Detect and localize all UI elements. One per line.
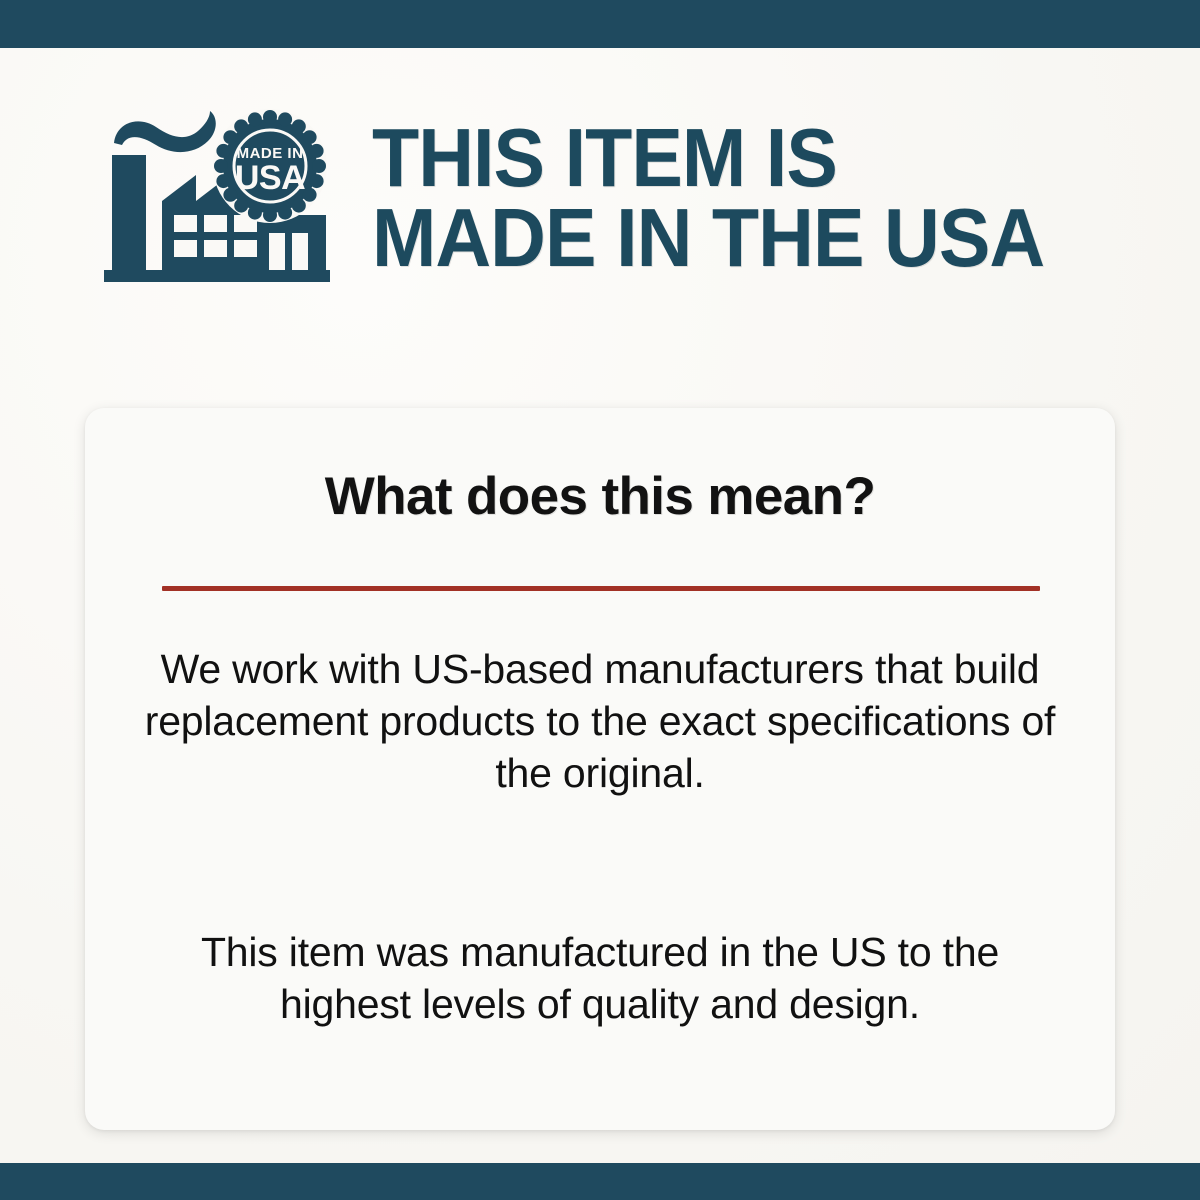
title-line-1: THIS ITEM IS [372, 118, 1142, 198]
chimney-shape [112, 155, 146, 270]
bottom-brand-bar [0, 1163, 1200, 1200]
made-in-usa-badge-icon: MADE IN USA [213, 109, 327, 223]
title-line-2: MADE IN THE USA [372, 198, 1142, 278]
card-paragraph-2: This item was manufactured in the US to … [140, 926, 1060, 1030]
factory-badge-logo: MADE IN USA [100, 103, 350, 293]
header: MADE IN USA THIS ITEM IS MADE IN THE USA [0, 98, 1200, 298]
card-heading: What does this mean? [85, 466, 1115, 527]
top-brand-bar [0, 0, 1200, 48]
card-paragraph-1: We work with US-based manufacturers that… [140, 643, 1060, 799]
page-canvas: MADE IN USA THIS ITEM IS MADE IN THE USA… [0, 48, 1200, 1163]
smoke-plume-icon [114, 111, 216, 152]
page-title: THIS ITEM IS MADE IN THE USA [372, 118, 1200, 277]
card-divider [162, 586, 1040, 591]
factory-base-shape [104, 270, 330, 282]
badge-usa-text: USA [235, 159, 305, 197]
factory-icon: MADE IN USA [100, 103, 350, 293]
info-card: What does this mean? We work with US-bas… [85, 408, 1115, 1130]
factory-annex-shape [250, 215, 326, 270]
